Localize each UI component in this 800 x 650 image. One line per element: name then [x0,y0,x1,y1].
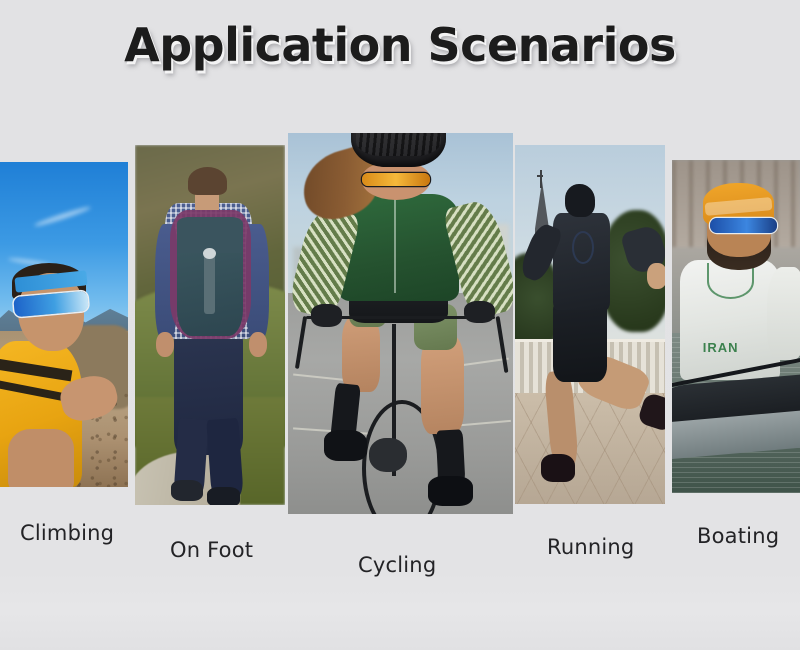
runner-shorts [553,303,607,382]
running-scene [515,145,665,504]
backpack-strap [204,249,215,314]
hiking-shoe-right [207,487,240,505]
page-title-container: Application Scenarios [0,18,800,72]
climbing-scene [0,162,128,487]
scenario-label-boating: Boating [697,524,779,548]
hiker-hair [188,167,227,196]
jersey-team-text: IRAN [685,340,757,355]
orange-lens-sunglasses-icon [362,173,430,186]
cycling-shoe-left [324,430,367,460]
scenario-label-climbing: Climbing [20,521,114,545]
cycling-glove-left [311,304,343,327]
backpack-buckle [203,248,217,260]
climber-leg [8,429,75,488]
shirt-logo-icon [572,231,594,264]
running-shoe-back [541,454,576,483]
church-cross-bar [537,175,543,177]
boating-scene: IRAN [672,160,800,493]
runner-hand-right [647,263,665,288]
jersey-zipper [394,198,396,293]
scenario-image-running [515,145,665,504]
cycling-shoe-right [428,476,473,506]
hiker-hand-left [156,332,174,357]
blue-mirrored-sunglasses-icon [710,218,777,233]
runner-head [565,184,595,216]
scenario-image-on-foot [135,145,285,505]
scenario-label-on-foot: On Foot [170,538,253,562]
kayaker-shoulder [767,267,800,360]
scenario-label-running: Running [547,535,634,559]
page-title: Application Scenarios [124,18,676,72]
on-foot-scene [135,145,285,505]
scenario-image-climbing [0,162,128,487]
hiker-hand-right [249,332,267,357]
scenario-image-cycling [288,133,513,514]
scenario-image-boating: IRAN [672,160,800,493]
cycling-scene [288,133,513,514]
hiking-shoe-left [171,480,203,502]
application-scenarios-banner: Application Scenarios [0,0,800,650]
cycling-glove-right [464,301,496,324]
helmet-vents [356,133,442,156]
bicycle-crankset [369,438,407,472]
scenario-label-cycling: Cycling [358,553,436,577]
cyclist-thigh-left [342,316,380,392]
